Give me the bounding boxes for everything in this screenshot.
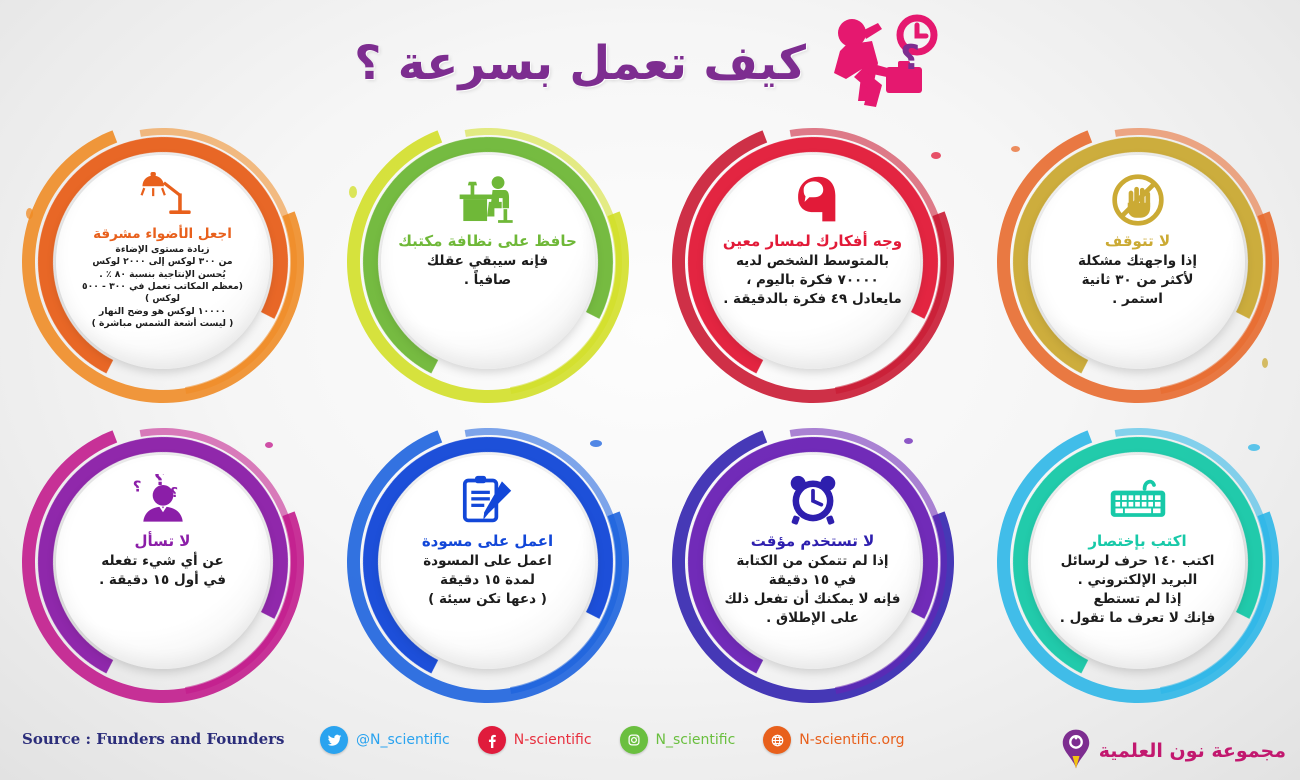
paint-splatter	[1262, 358, 1268, 368]
tip-card-dont-ask[interactable]: ؟ ؟ ؟ لا تسأل عن أي شيء تفعله في أول ١٥ …	[0, 412, 325, 712]
tip-body: عن أي شيء تفعله في أول ١٥ دقيقة .	[63, 552, 263, 590]
tip-line: زيادة مستوى الإضاءة	[70, 244, 256, 256]
tip-line: عن أي شيء تفعله	[63, 552, 263, 571]
tip-title: لا تسأل	[135, 532, 191, 550]
social-link-twitter[interactable]: @N_scientific	[320, 726, 450, 754]
tip-line: يُحسن الإنتاجية بنسبة ٨٠ ٪ .	[70, 269, 256, 281]
tip-body: إذا لم تتمكن من الكتابة في ١٥ دقيقة فإنه…	[713, 552, 913, 629]
paint-splatter	[265, 442, 273, 448]
tip-line: إذا واجهتك مشكلة	[1038, 252, 1238, 271]
tip-card-dont-stop[interactable]: لا تتوقف إذا واجهتك مشكلة لأكثر من ٣٠ ثا…	[975, 112, 1300, 412]
tip-card-no-timer[interactable]: لا تستخدم مؤقت إذا لم تتمكن من الكتابة ف…	[650, 412, 975, 712]
tip-title: وجه أفكارك لمسار معين	[723, 232, 902, 250]
twitter-handle[interactable]: @N_scientific	[356, 732, 450, 748]
page-header: ؟ كيف تعمل بسرعة ؟	[0, 8, 1300, 118]
paint-splatter	[26, 208, 33, 219]
confused-person-question-icon: ؟ ؟ ؟	[133, 471, 193, 529]
tip-line: ( ليست أشعة الشمس مباشرة )	[70, 318, 256, 330]
paint-splatter	[1248, 444, 1260, 451]
social-link-website[interactable]: N-scientific.org	[763, 726, 904, 754]
paint-splatter	[931, 152, 941, 159]
page-title: كيف تعمل بسرعة ؟	[354, 36, 806, 91]
keyboard-icon	[1107, 471, 1169, 529]
tip-card-clean-desk[interactable]: حافظ على نظافة مكتبك فإنه سيبقي عقلك صاف…	[325, 112, 650, 412]
tip-line: لمدة ١٥ دقيقة	[388, 571, 588, 590]
tip-disc: ؟ ؟ ؟ لا تسأل عن أي شيء تفعله في أول ١٥ …	[56, 455, 270, 669]
tip-disc: لا تستخدم مؤقت إذا لم تتمكن من الكتابة ف…	[706, 455, 920, 669]
tip-line: اعمل على المسودة	[388, 552, 588, 571]
tip-body: زيادة مستوى الإضاءة من ٣٠٠ لوكس إلى ٢٠٠٠…	[70, 244, 256, 330]
tip-body: فإنه سيبقي عقلك صافياً .	[388, 252, 588, 290]
tip-line: ١٠٠٠٠ لوكس هو وضح النهار	[70, 306, 256, 318]
tip-title: اجعل الأضواء مشرقة	[93, 226, 232, 242]
tip-line: ( دعها تكن سيئة )	[388, 590, 588, 609]
instagram-icon[interactable]	[620, 726, 648, 754]
tip-body: إذا واجهتك مشكلة لأكثر من ٣٠ ثانية استمر…	[1038, 252, 1238, 309]
tip-line: إذا لم تتمكن من الكتابة	[713, 552, 913, 571]
tip-title: اعمل على مسودة	[422, 532, 553, 550]
tip-line: من ٣٠٠ لوكس إلى ٢٠٠٠ لوكس	[70, 256, 256, 268]
tip-disc: اجعل الأضواء مشرقة زيادة مستوى الإضاءة م…	[56, 155, 270, 369]
tip-disc: لا تتوقف إذا واجهتك مشكلة لأكثر من ٣٠ ثا…	[1031, 155, 1245, 369]
paint-splatter	[349, 186, 357, 198]
tips-grid: لا تتوقف إذا واجهتك مشكلة لأكثر من ٣٠ ثا…	[0, 112, 1300, 712]
tip-title: اكتب بإختصار	[1088, 532, 1186, 550]
clipboard-pencil-icon	[459, 471, 517, 529]
tip-title: حافظ على نظافة مكتبك	[398, 232, 577, 250]
paint-splatter	[904, 438, 913, 444]
tip-line: ٧٠٠٠٠ فكرة باليوم ،	[713, 271, 913, 290]
tip-card-bright-lights[interactable]: اجعل الأضواء مشرقة زيادة مستوى الإضاءة م…	[0, 112, 325, 412]
tip-title: لا تستخدم مؤقت	[751, 532, 875, 550]
tip-line: لأكثر من ٣٠ ثانية	[1038, 271, 1238, 290]
tip-line: البريد الإلكتروني .	[1038, 571, 1238, 590]
tip-line: مايعادل ٤٩ فكرة بالدقيقة .	[713, 290, 913, 309]
social-link-facebook[interactable]: N-scientific	[478, 726, 592, 754]
tip-line: إذا لم تستطع	[1038, 590, 1238, 609]
facebook-handle[interactable]: N-scientific	[514, 732, 592, 748]
paint-splatter	[590, 440, 602, 447]
tip-card-work-draft[interactable]: اعمل على مسودة اعمل على المسودة لمدة ١٥ …	[325, 412, 650, 712]
tip-disc: اعمل على مسودة اعمل على المسودة لمدة ١٥ …	[381, 455, 595, 669]
social-link-instagram[interactable]: N_scientific	[620, 726, 736, 754]
head-thought-bubble-icon	[784, 171, 842, 229]
tip-card-write-short[interactable]: اكتب بإختصار اكتب ١٤٠ حرف لرسائل البريد …	[975, 412, 1300, 712]
tip-body: اكتب ١٤٠ حرف لرسائل البريد الإلكتروني . …	[1038, 552, 1238, 629]
alarm-clock-icon	[785, 471, 841, 529]
tip-disc: اكتب بإختصار اكتب ١٤٠ حرف لرسائل البريد …	[1031, 455, 1245, 669]
tip-line: في ١٥ دقيقة	[713, 571, 913, 590]
social-links: @N_scientific N-scientific N_scientific	[320, 726, 904, 754]
paint-splatter	[1011, 146, 1020, 152]
svg-text:؟: ؟	[900, 38, 920, 78]
tip-card-focus-thoughts[interactable]: وجه أفكارك لمسار معين بالمتوسط الشخص لدي…	[650, 112, 975, 412]
tip-line: استمر .	[1038, 290, 1238, 309]
twitter-icon[interactable]	[320, 726, 348, 754]
brand-name: مجموعة نون العلمية	[1099, 740, 1286, 762]
tip-title: لا تتوقف	[1105, 232, 1170, 250]
facebook-icon[interactable]	[478, 726, 506, 754]
tip-line: صافياً .	[388, 271, 588, 290]
tip-line: بالمتوسط الشخص لديه	[713, 252, 913, 271]
no-stop-hand-icon	[1110, 171, 1166, 229]
tip-line: فإنه لا يمكنك أن تفعل ذلك	[713, 590, 913, 609]
running-businessman-with-clock-icon: ؟	[816, 11, 946, 115]
tip-line: فإنه سيبقي عقلك	[388, 252, 588, 271]
tip-disc: وجه أفكارك لمسار معين بالمتوسط الشخص لدي…	[706, 155, 920, 369]
tip-disc: حافظ على نظافة مكتبك فإنه سيبقي عقلك صاف…	[381, 155, 595, 369]
tip-line: على الإطلاق .	[713, 609, 913, 628]
noon-pin-logo-icon	[1061, 728, 1091, 774]
svg-text:؟: ؟	[133, 478, 141, 496]
source-credit: Source : Funders and Founders	[22, 730, 284, 748]
svg-text:؟: ؟	[153, 474, 164, 490]
page-footer: Source : Funders and Founders @N_scienti…	[0, 714, 1300, 780]
website-url[interactable]: N-scientific.org	[799, 732, 904, 748]
desk-lamp-icon	[133, 171, 193, 223]
globe-icon[interactable]	[763, 726, 791, 754]
instagram-handle[interactable]: N_scientific	[656, 732, 736, 748]
brand-block: مجموعة نون العلمية	[1061, 728, 1286, 774]
desk-worker-icon	[456, 171, 520, 229]
tip-line: اكتب ١٤٠ حرف لرسائل	[1038, 552, 1238, 571]
tip-body: اعمل على المسودة لمدة ١٥ دقيقة ( دعها تك…	[388, 552, 588, 609]
tip-line: (معظم المكاتب تعمل في ٣٠٠ - ٥٠٠ لوكس )	[70, 281, 256, 306]
tip-line: فإنك لا تعرف ما تقول .	[1038, 609, 1238, 628]
tip-line: في أول ١٥ دقيقة .	[63, 571, 263, 590]
svg-text:؟: ؟	[170, 486, 178, 501]
tip-body: بالمتوسط الشخص لديه ٧٠٠٠٠ فكرة باليوم ، …	[713, 252, 913, 309]
